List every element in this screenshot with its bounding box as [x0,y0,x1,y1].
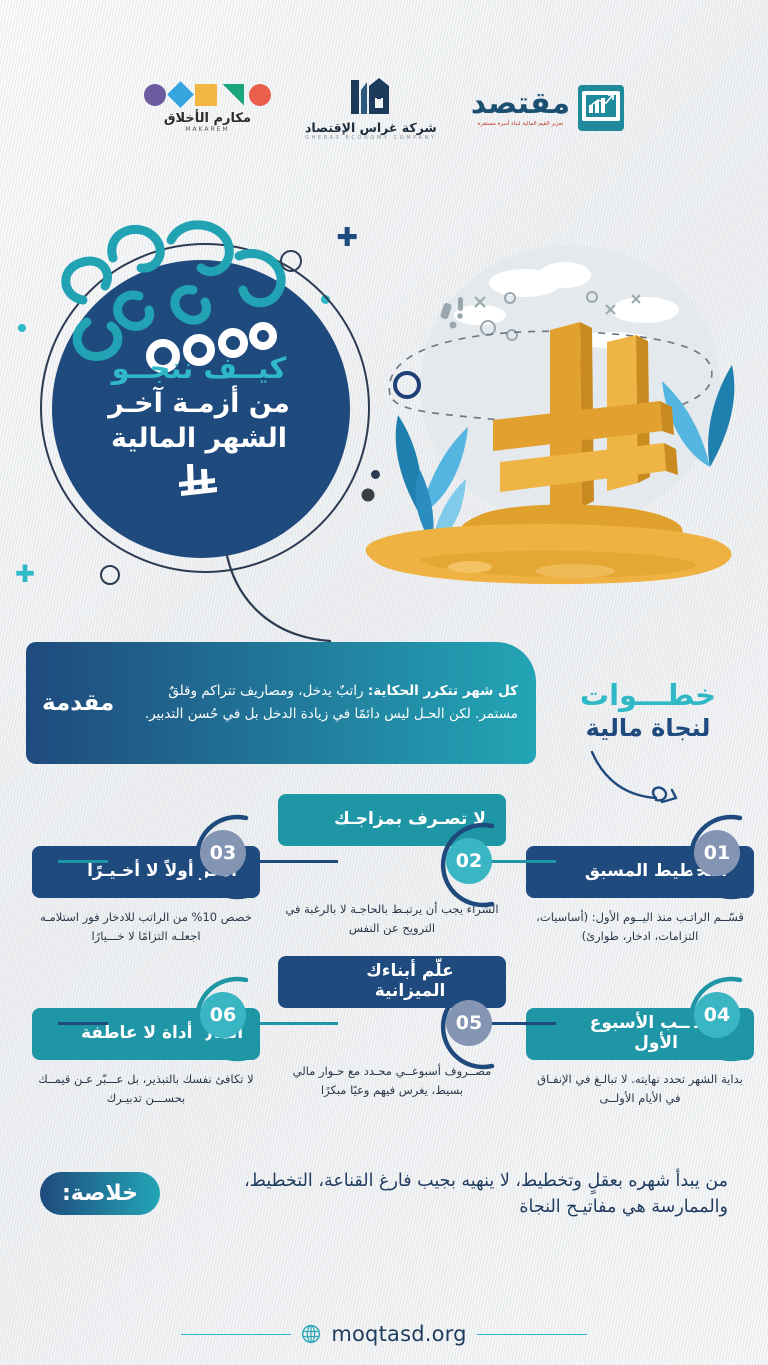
step-number-circle-06: 06 [200,992,246,1038]
step-number-circle-04: 04 [694,992,740,1038]
step-number-06: 06 [210,1004,236,1026]
logo-gheras: شركة غراس الإقتصاد GHERAS ECONOMY COMPAN… [305,76,437,141]
step-card-02[interactable]: 02 لا تصـرف بمزاجـك الشراء يجب أن يرتبـط… [278,794,506,938]
step-body-06: لا تكافئ نفسك بالتبذير، بل عـــبّر عـن ق… [32,1070,260,1108]
connector-row2-left [58,1022,108,1025]
deco-dot-2 [371,470,380,479]
deco-ring-2 [100,565,120,585]
step-number-circle-05: 05 [446,1000,492,1046]
intro-banner: كل شهر تتكرر الحكاية: راتبٌ يدخل، ومصاري… [26,642,536,764]
step-number-circle-02: 02 [446,838,492,884]
conclusion-badge: خلاصة: [40,1172,160,1215]
step-body-03: خصص 10% من الراتب للادخار فور استلامـه ا… [32,908,260,946]
step-number-circle-03: 03 [200,830,246,876]
makarem-shapes-icon [144,84,271,106]
logo-moqtasd-name: مقتصد [471,89,570,119]
step-card-06[interactable]: 06 المال أداة لا عاطفة لا تكافئ نفسك بال… [32,992,260,1108]
step-number-circle-01: 01 [694,830,740,876]
logo-gheras-name: شركة غراس الإقتصاد [305,120,437,135]
deco-dot-3 [18,324,26,332]
header-logos: مكارم الأخلاق MAKAREM شركة غراس الإقتصاد… [0,62,768,154]
hero-section: كيــف ننجــو من أزمـة آخـر الشهر المالية… [0,195,768,615]
infographic-page: مكارم الأخلاق MAKAREM شركة غراس الإقتصاد… [0,0,768,1365]
logo-makarem-name: مكارم الأخلاق [164,111,251,126]
step-card-04[interactable]: 04 راقـــب الأسبوع الأول بداية الشهر تحد… [526,992,754,1108]
hero-title-line1: كيــف ننجــو [58,350,340,386]
steps-heading: خطـــوات لنجاة مالية [548,678,748,820]
logo-gheras-sub: GHERAS ECONOMY COMPANY [305,135,436,141]
step-number-03: 03 [210,842,236,864]
logo-makarem: مكارم الأخلاق MAKAREM [144,84,271,133]
conclusion-text: من يبدأ شهره بعقلٍ وتخطيط، لا ينهيه بجيب… [176,1168,728,1221]
logo-moqtasd: مقتصد تعزيز القيم المالية لبناء أسرة مست… [471,85,624,131]
conclusion-section: من يبدأ شهره بعقلٍ وتخطيط، لا ينهيه بجيب… [0,1168,768,1268]
step-number-05: 05 [456,1012,482,1034]
saudi-riyal-symbol-icon [171,460,227,504]
logo-moqtasd-sub: تعزيز القيم المالية لبناء أسرة مستقرة [471,121,570,127]
intro-label: مقدمة [42,690,114,716]
step-card-03[interactable]: 03 ادّخر أولاً لا أخـيـرًا خصص 10% من ال… [32,830,260,946]
footer-website[interactable]: moqtasd.org [331,1322,466,1346]
melting-riyal-illustration [360,215,760,605]
moqtasd-chart-icon [578,85,624,131]
intro-text: كل شهر تتكرر الحكاية: راتبٌ يدخل، ومصاري… [128,680,518,726]
steps-heading-line1: خطـــوات [548,678,748,712]
step-number-01: 01 [704,842,730,864]
intro-bold: كل شهر تتكرر الحكاية: [368,683,518,699]
step-body-01: قسّــم الراتـب منذ اليــوم الأول: (أساسي… [526,908,754,946]
steps-heading-line2: لنجاة مالية [548,714,748,742]
logo-makarem-sub: MAKAREM [185,126,229,133]
hero-title-line2: من أزمـة آخـر [58,386,340,421]
hero-title: كيــف ننجــو من أزمـة آخـر الشهر المالية [58,350,340,508]
speech-bubble-tail [218,545,338,655]
deco-plus-2: ✚ [15,560,35,588]
connector-row1-left [58,860,108,863]
step-number-04: 04 [704,1004,730,1026]
step-card-05[interactable]: 05 علّم أبناءك الميزانية مصــروف أسبوعــ… [278,956,506,1100]
globe-icon [301,1324,321,1344]
step-body-04: بداية الشهر تحدد نهايته. لا تبالـغ في ال… [526,1070,754,1108]
step-number-02: 02 [456,850,482,872]
gheras-building-icon [345,76,397,116]
deco-plus-1: ✚ [336,223,358,253]
footer: moqtasd.org [0,1303,768,1365]
hero-title-line3: الشهر المالية [58,421,340,456]
steps-section: 01 التخطيط المسبق قسّــم الراتـب منذ الي… [0,800,768,1130]
step-card-01[interactable]: 01 التخطيط المسبق قسّــم الراتـب منذ الي… [526,830,754,946]
